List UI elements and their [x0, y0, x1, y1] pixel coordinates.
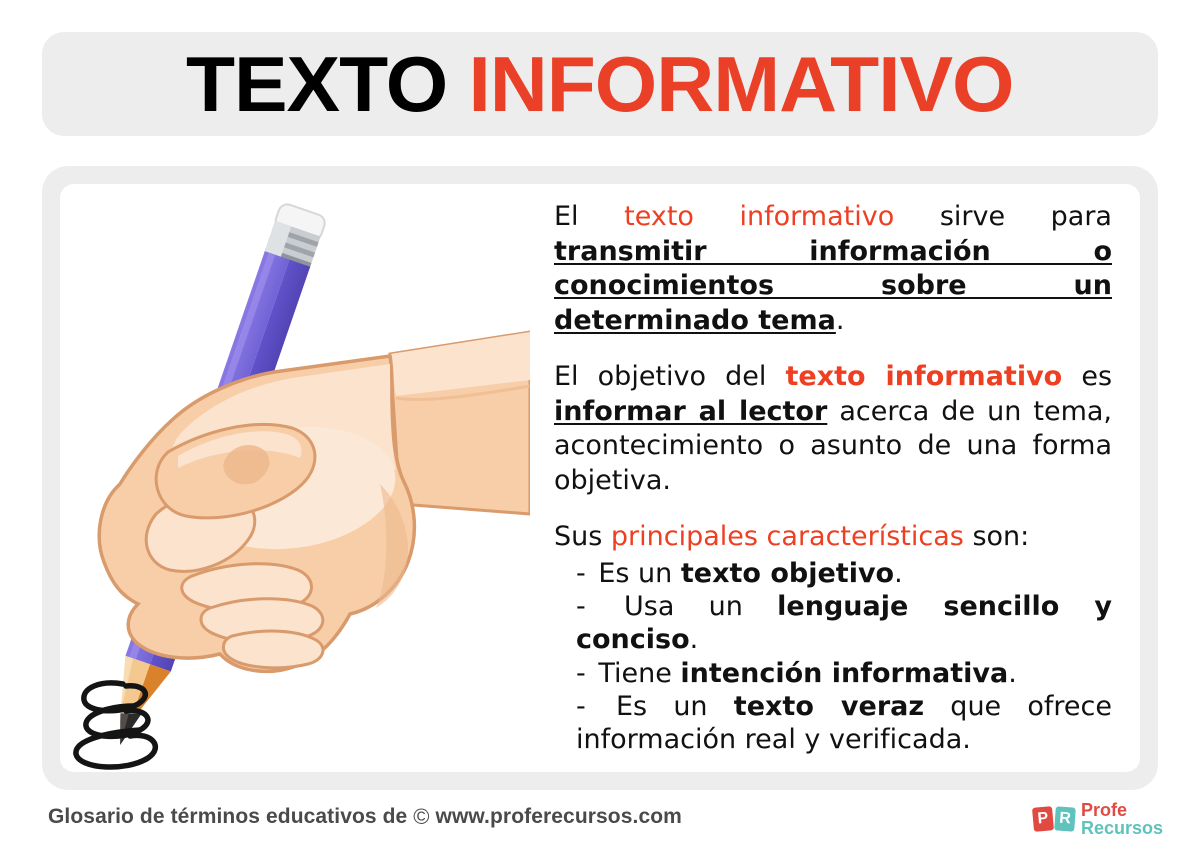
list-item: - Tiene intención informativa. [554, 657, 1112, 690]
paragraph-characteristics: Sus principales características son: - E… [554, 520, 1112, 756]
paragraph-objective: El objetivo del texto informativo es inf… [554, 360, 1112, 498]
p1-s3: sirve para [894, 201, 1112, 232]
bullet-text-plain2: . [690, 624, 699, 655]
title-space [447, 40, 468, 128]
logo-square-p-icon: P [1032, 807, 1054, 833]
bullet-text-plain2: . [1008, 658, 1017, 689]
characteristics-list: - Es un texto objetivo. - Usa un lenguaj… [554, 557, 1112, 756]
header-card: TEXTO INFORMATIVO [42, 32, 1158, 136]
list-item: - Es un texto veraz que ofrece informaci… [554, 690, 1112, 756]
bullet-text-plain1: Usa un [590, 591, 777, 622]
p2-highlight-texto-informativo: texto informativo [785, 361, 1062, 392]
bullet-dash: - [576, 591, 586, 622]
hand-shape [99, 332, 530, 671]
bullet-text-bold: texto objetivo [681, 558, 894, 589]
logo-word-profe: Profe [1081, 801, 1163, 819]
footer-site-url[interactable]: www.proferecursos.com [436, 805, 682, 828]
footer-credit-text: Glosario de términos educativos de [48, 805, 407, 828]
bullet-text-plain1: Tiene [590, 658, 681, 689]
bullet-text-plain2: . [894, 558, 903, 589]
footer: Glosario de términos educativos de © www… [0, 795, 1200, 848]
bullet-dash: - [576, 658, 586, 689]
list-item: - Usa un lenguaje sencillo y conciso. [554, 590, 1112, 656]
logo-wordmark: Profe Recursos [1081, 801, 1163, 838]
hand-pencil-svg [60, 184, 530, 772]
p1-highlight-texto-informativo: texto informativo [624, 201, 894, 232]
logo-word-recursos: Recursos [1081, 819, 1163, 837]
p2-s3: es [1062, 361, 1112, 392]
p1-s1: El [554, 201, 624, 232]
infographic-page: TEXTO INFORMATIVO [0, 0, 1200, 848]
copyright-icon: © [413, 804, 429, 830]
p2-emphasis-informar-al-lector: informar al lector [554, 396, 827, 427]
p2-s1: El objetivo del [554, 361, 785, 392]
list-item: - Es un texto objetivo. [554, 557, 1112, 590]
footer-credit: Glosario de términos educativos de © www… [48, 803, 682, 829]
p3-s3: son: [964, 521, 1029, 552]
p1-s5: . [836, 305, 845, 336]
bullet-dash: - [576, 691, 586, 722]
text-content-panel: El texto informativo sirve para transmit… [530, 184, 1140, 772]
page-title: TEXTO INFORMATIVO [186, 45, 1014, 123]
bullet-text-plain1: Es un [590, 691, 734, 722]
characteristics-lead: Sus principales características son: [554, 520, 1112, 555]
p3-s1: Sus [554, 521, 611, 552]
bullet-text-plain1: Es un [590, 558, 681, 589]
title-part-texto: TEXTO [186, 40, 447, 128]
bullet-dash: - [576, 558, 586, 589]
logo-square-r-icon: R [1054, 807, 1076, 832]
proferecursos-logo[interactable]: P R Profe Recursos [1033, 801, 1163, 838]
hand-writing-illustration [60, 184, 530, 772]
p3-highlight-caracteristicas: principales características [611, 521, 964, 552]
bullet-text-bold: texto veraz [734, 691, 924, 722]
paragraph-definition: El texto informativo sirve para transmit… [554, 200, 1112, 338]
pencil-scribble [76, 683, 155, 767]
logo-marks: P R [1033, 807, 1075, 831]
main-card-content: El texto informativo sirve para transmit… [60, 184, 1140, 772]
p1-emphasis-transmitir: transmitir información o conocimientos s… [554, 236, 1112, 336]
title-part-informativo: INFORMATIVO [469, 40, 1014, 128]
bullet-text-bold: intención informativa [680, 658, 1008, 689]
